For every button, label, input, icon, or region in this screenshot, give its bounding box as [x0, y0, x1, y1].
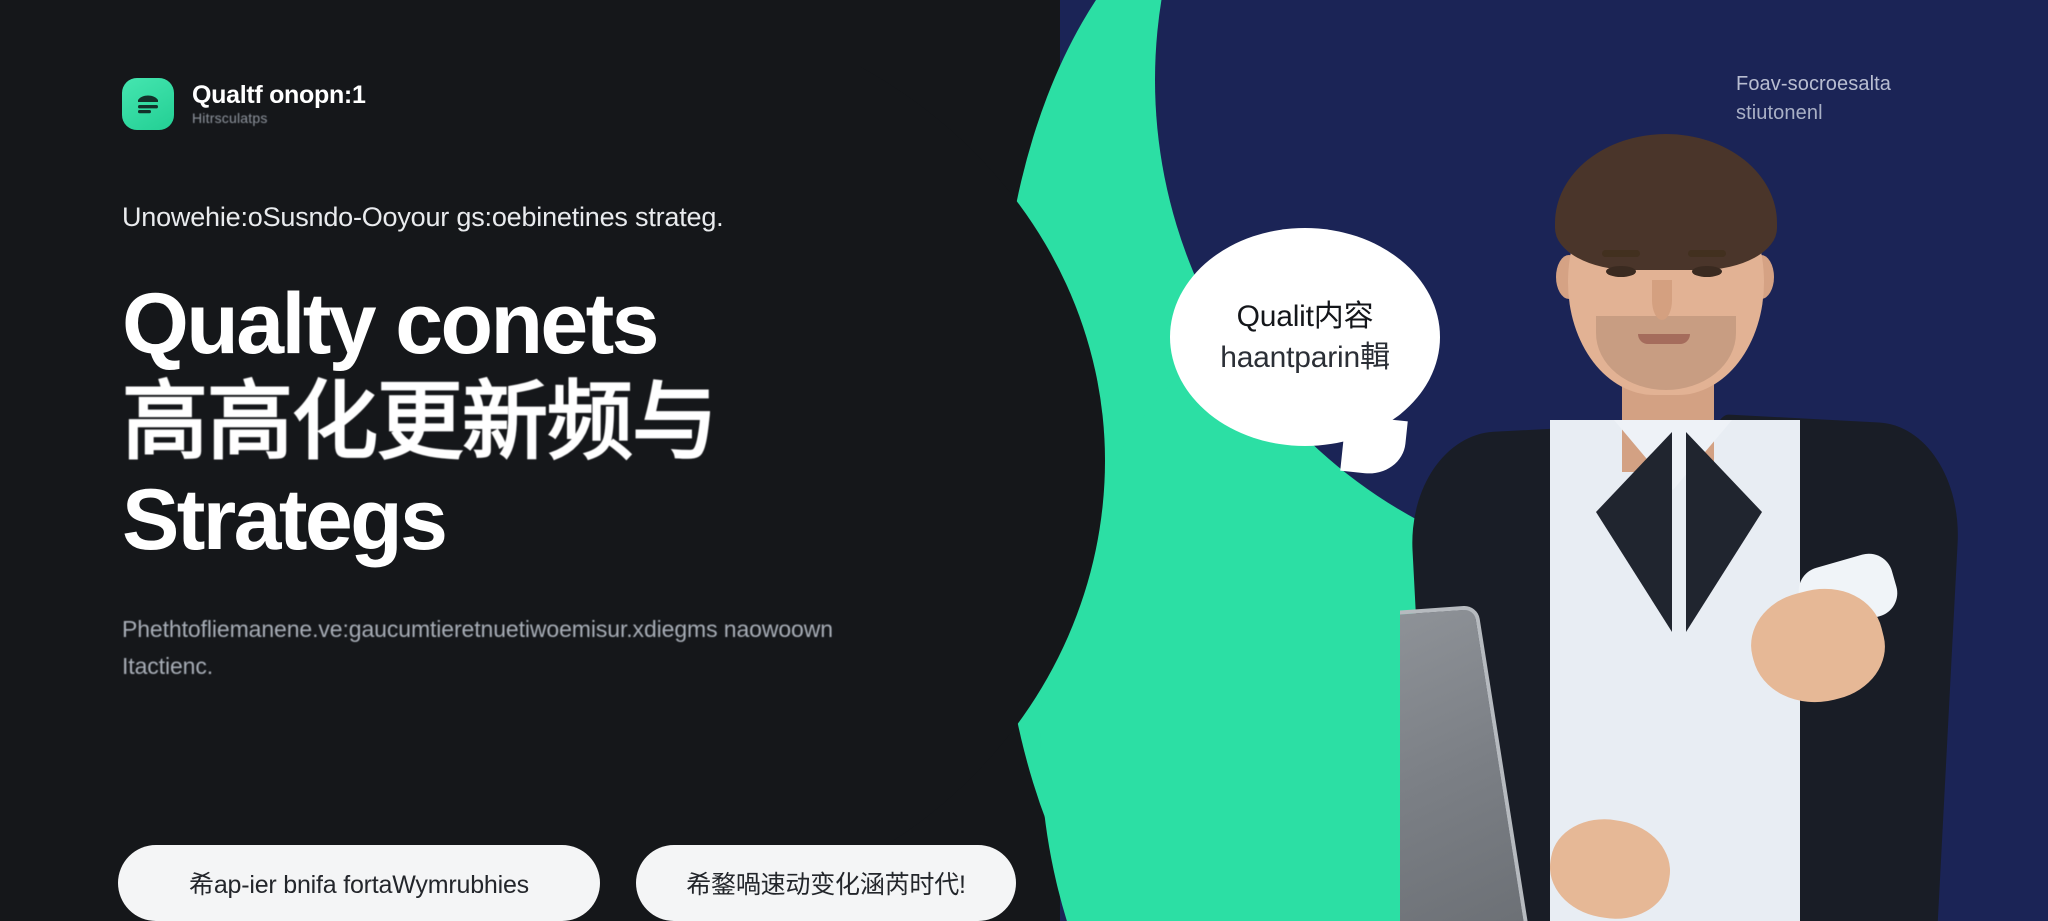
hero-body-text: Phethtofliemanene.ve:gaucumtieretnuetiwo…	[122, 611, 922, 686]
top-right-line-2: stiutonenl	[1736, 99, 1891, 128]
headline-line-3: Strategs	[122, 471, 1002, 569]
brand-logo[interactable]: Qualtf onopn:1 Hitrsculatps	[122, 78, 366, 130]
speech-bubble-line-1: Qualit内容	[1220, 296, 1390, 337]
eyebrow-right	[1688, 250, 1726, 257]
stacked-layers-icon	[122, 78, 174, 130]
nose	[1652, 280, 1672, 320]
page-title: Qualty conets 高高化更新频与 Strategs	[122, 275, 1002, 569]
brand-text: Qualtf onopn:1 Hitrsculatps	[192, 82, 366, 126]
speech-bubble-text: Qualit内容 haantparin輯	[1202, 296, 1408, 379]
hair	[1555, 134, 1777, 270]
hero-eyebrow: Unowehie:oSusndo-Ooyour gs:oebinetines s…	[122, 200, 1002, 235]
secondary-cta-button[interactable]: 希鍪喎速动变化涵芮时代!	[636, 845, 1016, 921]
hero-copy: Unowehie:oSusndo-Ooyour gs:oebinetines s…	[122, 200, 1002, 686]
speech-bubble: Qualit内容 haantparin輯	[1170, 228, 1440, 446]
cta-row: 希ap-ier bnifa fortaWymrubhies 希鍪喎速动变化涵芮时…	[118, 845, 1016, 921]
headline-line-2: 高高化更新频与	[122, 373, 1002, 471]
speech-bubble-line-2: haantparin輯	[1220, 337, 1390, 378]
headline-line-1: Qualty conets	[122, 275, 1002, 373]
presenter-photo	[1400, 120, 2040, 921]
eye-right	[1692, 266, 1722, 277]
hero-banner: Qualit内容 haantparin輯 Foav-socroesalta st…	[0, 0, 2048, 921]
brand-tagline: Hitrsculatps	[192, 111, 366, 126]
eyebrow-left	[1602, 250, 1640, 257]
mouth	[1638, 334, 1690, 344]
top-right-caption: Foav-socroesalta stiutonenl	[1736, 70, 1891, 128]
top-right-line-1: Foav-socroesalta	[1736, 70, 1891, 99]
brand-name: Qualtf onopn:1	[192, 82, 366, 108]
eye-left	[1606, 266, 1636, 277]
primary-cta-button[interactable]: 希ap-ier bnifa fortaWymrubhies	[118, 845, 600, 921]
